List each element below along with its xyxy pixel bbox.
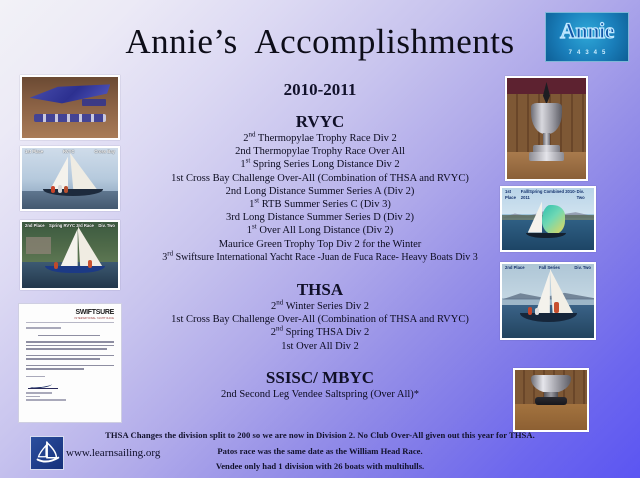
line-text: 3rd Long Distance Summer Series D (Div 2…: [226, 212, 414, 223]
accomplishment-line: 1st Spring Series Long Distance Div 2: [120, 158, 520, 171]
letter-text-line: [26, 396, 40, 397]
letter-divider: [26, 322, 114, 323]
photo-caption: 2nd Place Fall Series Div. Two: [502, 265, 594, 271]
house-shape: [26, 237, 51, 254]
caption-right: Cross Bay: [94, 149, 115, 155]
letter-text-line: [38, 335, 100, 336]
plaque-shape: [82, 99, 107, 106]
line-text: 1st Cross Bay Challenge Over-All (Combin…: [171, 314, 469, 325]
section-heading-ssisc-mbyc: SSISC/ MBYC: [120, 368, 520, 387]
line-text: Swiftsure International Yacht Race -Juan…: [173, 252, 478, 263]
section-heading-thsa: THSA: [120, 280, 520, 299]
caption-left: 2nd Place: [25, 223, 45, 229]
floor-shape: [515, 404, 587, 430]
rank-ordinal: nd: [276, 325, 283, 333]
accomplishment-line: 2nd Spring THSA Div 2: [120, 326, 520, 339]
letter-text-line: [26, 327, 61, 328]
slide-canvas: Annie’s Accomplishments 2010-2011 Annie …: [0, 0, 640, 478]
line-text: 1st Over All Div 2: [281, 341, 359, 352]
accomplishment-line: 1st RTB Summer Series C (Div 3): [120, 198, 520, 211]
letter-brand: SWIFTSURE: [26, 309, 114, 317]
caption-mid: Fall/Spring Combined 2010-2011: [521, 189, 577, 201]
crew-figure: [51, 186, 55, 193]
trophy-base: [529, 152, 564, 161]
caption-mid: Fall Series: [539, 265, 560, 271]
accomplishment-line: 1st Cross Bay Challenge Over-All (Combin…: [120, 172, 520, 185]
crew-figure: [58, 185, 62, 193]
accomplishment-line: 1st Over All Div 2: [120, 340, 520, 353]
letter-text-line: [26, 365, 114, 366]
cross-bay-sailing-photo: 1st Place RVYC Cross Bay: [20, 146, 120, 211]
page-title: Annie’s Accomplishments: [0, 22, 640, 62]
crew-figure: [64, 186, 68, 193]
plaque-row-shape: [34, 114, 107, 123]
annie-logo-name: Annie: [546, 19, 628, 43]
caption-left: 1st Place: [25, 149, 43, 155]
line-text: 2nd Long Distance Summer Series A (Div 2…: [226, 186, 415, 197]
letter-text-line: [26, 355, 114, 356]
photo-caption: 2nd Place Spring RVYC 3rd Race Div. Two: [22, 223, 118, 229]
line-text: RTB Summer Series C (Div 3): [259, 199, 391, 210]
caption-left: 1st Place: [505, 189, 521, 201]
trophy-stem: [543, 133, 549, 146]
letter-text-line: [26, 392, 52, 393]
line-text: 2nd Second Leg Vendee Saltspring (Over A…: [221, 389, 419, 400]
photo-caption: 1st Place RVYC Cross Bay: [22, 149, 118, 155]
accomplishment-line: 3rd Long Distance Summer Series D (Div 2…: [120, 211, 520, 224]
photo-caption: 1st Place Fall/Spring Combined 2010-2011…: [502, 189, 594, 201]
accomplishment-line: 2nd Second Leg Vendee Saltspring (Over A…: [120, 388, 520, 401]
caption-mid: Spring RVYC 3rd Race: [49, 223, 94, 229]
crew-figure: [535, 308, 539, 315]
line-text: Thermopylae Trophy Race Div 2: [256, 133, 397, 144]
website-url-link[interactable]: www.learnsailing.org: [66, 447, 160, 459]
footnote: THSA Changes the division split to 200 s…: [0, 428, 640, 444]
section-heading-rvyc: RVYC: [120, 112, 520, 131]
letter-text-line: [26, 341, 114, 342]
letter-text-line: [26, 399, 66, 400]
rank-ordinal: nd: [249, 131, 256, 139]
signature-mark: [28, 381, 58, 389]
caption-mid: RVYC: [63, 149, 75, 155]
caption-right: Div. Two: [98, 223, 115, 229]
sailboat-logo-icon: [30, 436, 64, 470]
line-text: Maurice Green Trophy Top Div 2 for the W…: [219, 239, 422, 250]
swiftsure-letter-document: SWIFTSURE INTERNATIONAL YACHT RACE: [18, 303, 122, 423]
trophy-plaques-photo: [20, 75, 120, 140]
line-text: Over All Long Distance (Div 2): [257, 225, 393, 236]
line-text: Spring Series Long Distance Div 2: [250, 159, 399, 170]
accomplishment-line: 2nd Thermopylae Trophy Race Over All: [120, 145, 520, 158]
accomplishment-line: Maurice Green Trophy Top Div 2 for the W…: [120, 238, 520, 251]
accomplishments-list: RVYC 2nd Thermopylae Trophy Race Div 2 2…: [120, 112, 520, 401]
accomplishment-line: 2nd Thermopylae Trophy Race Div 2: [120, 132, 520, 145]
accomplishment-line: 2nd Long Distance Summer Series A (Div 2…: [120, 185, 520, 198]
accomplishment-line: 3rd Swiftsure International Yacht Race -…: [84, 251, 556, 264]
letter-closing-line: [26, 376, 45, 377]
letter-text-line: [26, 345, 114, 346]
line-text: Winter Series Div 2: [283, 301, 369, 312]
caption-right: Div. Two: [574, 265, 591, 271]
footnote: Vendee only had 1 division with 26 boats…: [0, 459, 640, 475]
crew-figure: [554, 302, 559, 313]
line-text: 2nd Thermopylae Trophy Race Over All: [235, 146, 405, 157]
caption-left: 2nd Place: [505, 265, 525, 271]
accomplishment-line: 1st Over All Long Distance (Div 2): [120, 224, 520, 237]
letter-text-line: [26, 348, 107, 349]
annie-sail-number: 74345: [546, 50, 628, 56]
crew-figure: [54, 262, 58, 269]
letter-brand-subtitle: INTERNATIONAL YACHT RACE: [26, 317, 114, 320]
letter-text-line: [26, 358, 100, 359]
line-text: Spring THSA Div 2: [283, 327, 369, 338]
bowl-trophy-photo: [513, 368, 589, 432]
crew-figure: [528, 307, 532, 315]
trophy-base: [535, 397, 567, 405]
caption-right: Div. Two: [577, 189, 591, 201]
spinnaker-shape: [542, 205, 564, 234]
accomplishment-line: 2nd Winter Series Div 2: [120, 300, 520, 313]
line-text: 1st Cross Bay Challenge Over-All (Combin…: [171, 173, 469, 184]
letter-text-line: [26, 368, 84, 369]
accomplishment-line: 1st Cross Bay Challenge Over-All (Combin…: [120, 313, 520, 326]
annie-logo: Annie 74345: [545, 12, 629, 62]
